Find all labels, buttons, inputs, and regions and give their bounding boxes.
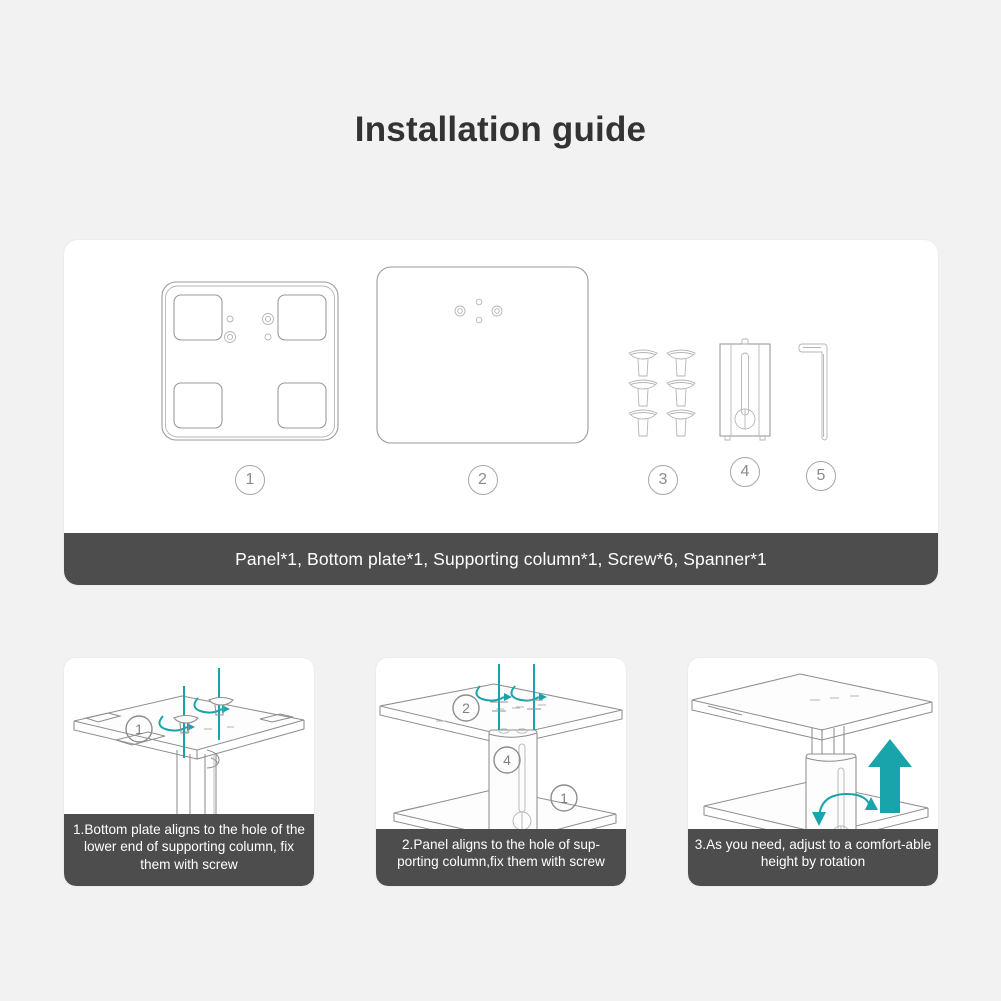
part-number-badge: 5 xyxy=(806,461,836,491)
parts-list-card: 1 2 xyxy=(64,240,938,585)
steps-row: 1 4 1.Bottom plate aligns to the hole of… xyxy=(64,658,938,886)
page-title: Installation guide xyxy=(0,110,1001,150)
panel-icon xyxy=(375,265,590,445)
part-number-badge: 4 xyxy=(730,457,760,487)
step-3-caption: 3.As you need, adjust to a comfort-able … xyxy=(688,829,938,886)
step-card-1: 1 4 1.Bottom plate aligns to the hole of… xyxy=(64,658,314,886)
part-number-badge: 2 xyxy=(468,465,498,495)
svg-text:2: 2 xyxy=(462,700,470,716)
part-spanner: 5 xyxy=(795,340,847,495)
step-card-3: 3.As you need, adjust to a comfort-able … xyxy=(688,658,938,886)
part-number-badge: 3 xyxy=(648,465,678,495)
part-panel: 2 xyxy=(375,265,590,495)
step-card-2: 2 4 1 2.Panel aligns to the hole of sup-… xyxy=(376,658,626,886)
bottom-plate-icon xyxy=(160,280,340,445)
part-supporting-column: 4 xyxy=(714,336,776,495)
step-2-caption: 2.Panel aligns to the hole of sup-portin… xyxy=(376,829,626,886)
step-1-caption: 1.Bottom plate aligns to the hole of the… xyxy=(64,814,314,886)
spanner-icon xyxy=(795,340,847,444)
svg-text:1: 1 xyxy=(560,790,568,806)
part-screws: 3 xyxy=(623,348,703,495)
supporting-column-icon xyxy=(714,336,776,442)
svg-text:1: 1 xyxy=(135,721,143,737)
parts-list-caption: Panel*1, Bottom plate*1, Supporting colu… xyxy=(64,533,938,585)
parts-diagram: 1 2 xyxy=(64,240,938,525)
part-number-badge: 1 xyxy=(235,465,265,495)
part-bottom-plate: 1 xyxy=(160,280,340,495)
screw-icon xyxy=(623,348,703,438)
svg-text:4: 4 xyxy=(503,752,511,768)
